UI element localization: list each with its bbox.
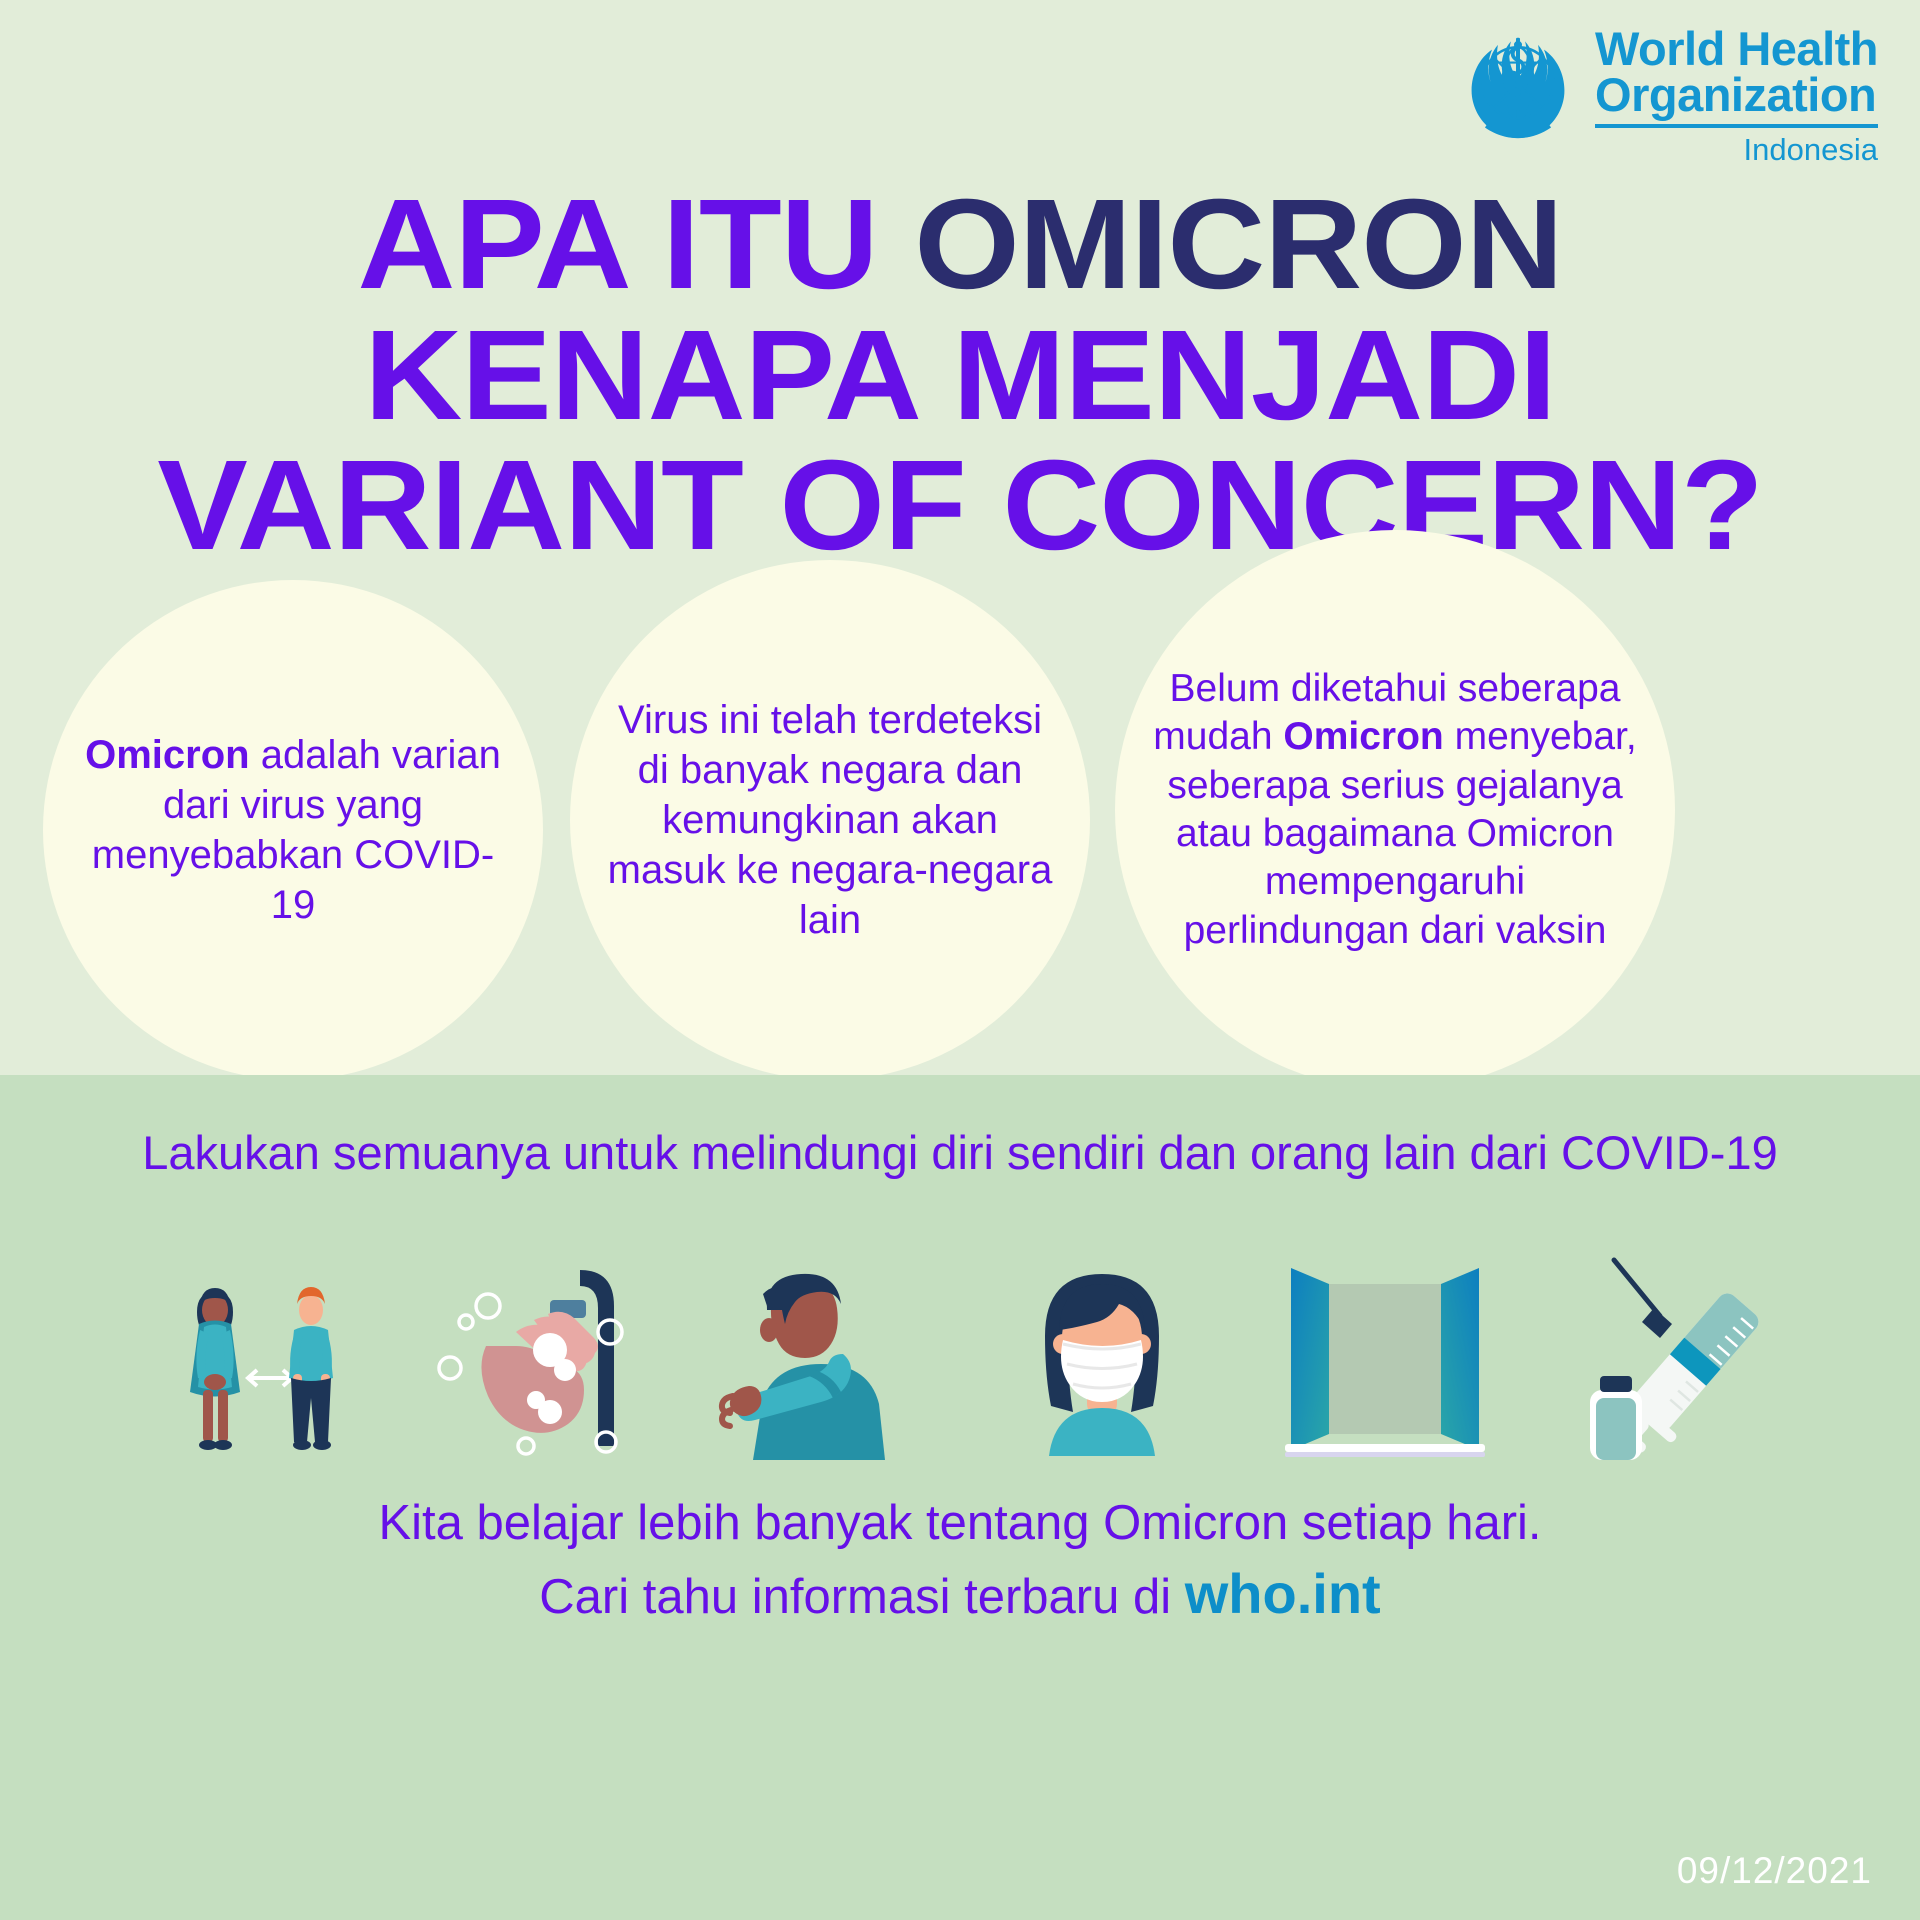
fact-circle-2: Virus ini telah terdeteksi di banyak neg… [570,560,1090,1080]
footer-line-2-prefix: Cari tahu informasi terbaru di [539,1570,1184,1624]
prevention-icon-row [0,1230,1920,1460]
footer-line-2: Cari tahu informasi terbaru di who.int [0,1556,1920,1632]
who-logo-title: World Health Organization [1595,26,1878,117]
footer-line-1: Kita belajar lebih banyak tentang Omicro… [0,1490,1920,1556]
who-logo: World Health Organization Indonesia [1459,26,1878,165]
protect-yourself-section: Lakukan semuanya untuk melindungi diri s… [0,1075,1920,1920]
page-title-apa-itu: APA ITU [357,173,914,316]
date-stamp: 09/12/2021 [1677,1850,1872,1892]
fact-circle-1: Omicron adalah varian dari virus yang me… [43,580,543,1080]
fact-circle-3-text: Belum diketahui seberapa mudah Omicron m… [1149,665,1641,955]
fact-circle-2-text: Virus ini telah terdeteksi di banyak neg… [604,695,1056,945]
who-int-link[interactable]: who.int [1185,1562,1381,1625]
who-logo-title-line2: Organization [1595,68,1876,121]
page-title-line-1: APA ITU OMICRON [0,180,1920,311]
fact-circle-1-text: Omicron adalah varian dari virus yang me… [77,730,509,930]
who-logo-text: World Health Organization Indonesia [1595,26,1878,165]
wear-mask-icon [987,1240,1217,1460]
vaccine-syringe-icon [1553,1240,1783,1460]
footer-text: Kita belajar lebih banyak tentang Omicro… [0,1490,1920,1632]
page-title-omicron: OMICRON [914,173,1562,316]
cough-into-elbow-icon [703,1240,933,1460]
fact-circle-3: Belum diketahui seberapa mudah Omicron m… [1115,530,1675,1090]
fact-circles: Omicron adalah varian dari virus yang me… [0,560,1920,1070]
who-emblem-icon [1459,26,1577,144]
page-title-line-2: KENAPA MENJADI [0,311,1920,442]
page-title: APA ITU OMICRON KENAPA MENJADI VARIANT O… [0,180,1920,572]
protect-yourself-heading: Lakukan semuanya untuk melindungi diri s… [0,1125,1920,1180]
physical-distancing-icon [137,1240,367,1460]
who-logo-divider [1595,124,1878,128]
who-logo-country: Indonesia [1595,134,1878,165]
open-window-ventilation-icon [1270,1240,1500,1460]
hand-washing-icon [420,1240,650,1460]
fact-circle-3-bold: Omicron [1283,715,1443,758]
page-title-line-3: VARIANT OF CONCERN? [0,441,1920,572]
fact-circle-1-bold: Omicron [85,733,249,777]
